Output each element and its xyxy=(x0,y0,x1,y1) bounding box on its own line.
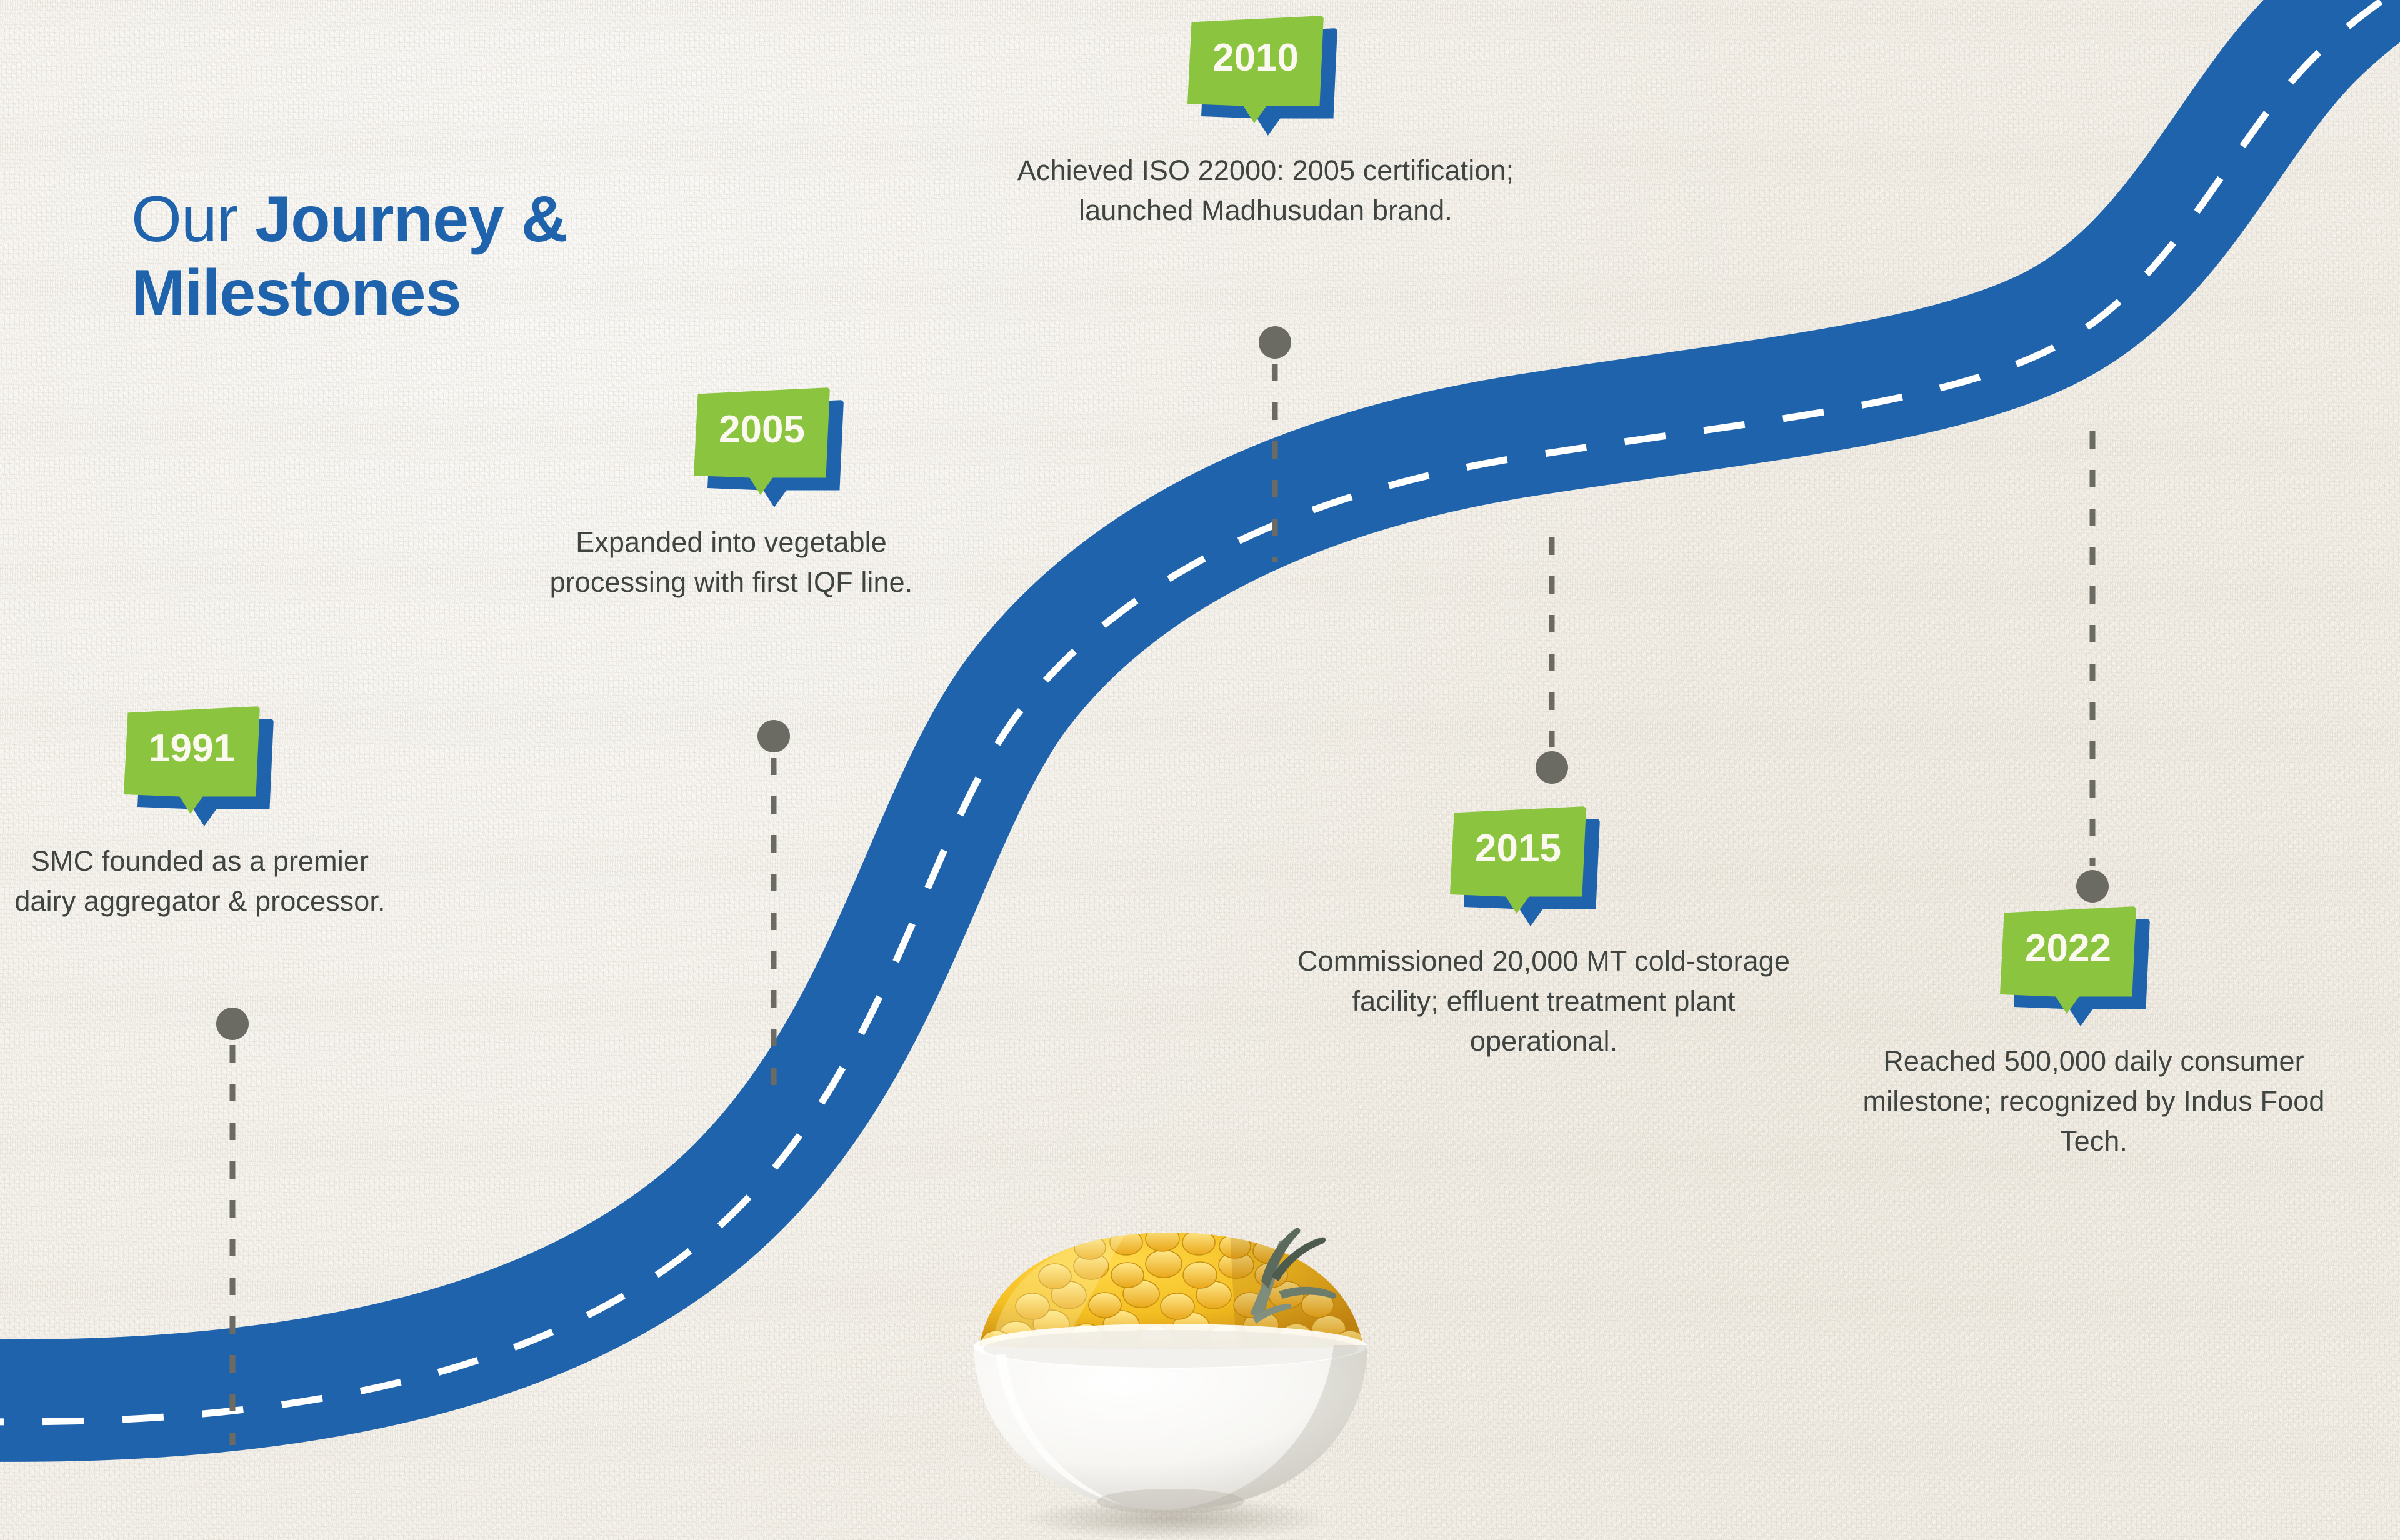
badge-year-label: 2022 xyxy=(2025,926,2111,971)
connector-2005 xyxy=(757,720,790,1100)
milestone-description: Expanded into vegetable processing with … xyxy=(512,522,950,602)
badge-year-label: 2015 xyxy=(1475,826,1561,871)
bowl-rim-inner xyxy=(983,1330,1358,1367)
bowl-foot xyxy=(1097,1489,1244,1514)
badge-year-label: 2005 xyxy=(719,407,805,452)
milestone-description: Commissioned 20,000 MT cold-storage faci… xyxy=(1287,941,1800,1061)
milestone-description: Achieved ISO 22000: 2005 certification; … xyxy=(1006,151,1525,231)
milestone-1991[interactable]: 1991 SMC founded as a premier dairy aggr… xyxy=(0,706,400,949)
milestone-2010[interactable]: 2010 Achieved ISO 22000: 2005 certificat… xyxy=(1006,16,1525,259)
page-title-part-journey: Journey & xyxy=(255,183,567,256)
milestone-description: Reached 500,000 daily consumer milestone… xyxy=(1850,1041,2337,1161)
connector-2010 xyxy=(1259,326,1291,562)
connector-2015 xyxy=(1536,537,1568,784)
year-badge-2022[interactable]: 2022 xyxy=(2000,906,2150,1025)
milestone-description: SMC founded as a premier dairy aggregato… xyxy=(0,841,400,921)
page-title-part-our: Our xyxy=(131,183,255,256)
badge-year-label: 2010 xyxy=(1212,36,1299,80)
milestone-2022[interactable]: 2022 Reached 500,000 daily consumer mile… xyxy=(1850,906,2337,1189)
page-title-part-milestones: Milestones xyxy=(131,257,461,329)
connector-1991 xyxy=(216,1007,249,1445)
connector-2022 xyxy=(2076,431,2109,902)
year-badge-2005[interactable]: 2005 xyxy=(694,387,844,506)
page-title: Our Journey & Milestones xyxy=(131,182,756,331)
milestone-2005[interactable]: 2005 Expanded into vegetable processing … xyxy=(512,387,950,631)
year-badge-2015[interactable]: 2015 xyxy=(1450,806,1600,925)
year-badge-1991[interactable]: 1991 xyxy=(124,706,274,825)
milestone-2015[interactable]: 2015 Commissioned 20,000 MT cold-storage… xyxy=(1287,806,1800,1089)
year-badge-2010[interactable]: 2010 xyxy=(1187,16,1337,134)
sweetcorn-bowl-image xyxy=(967,1206,1374,1540)
badge-year-label: 1991 xyxy=(149,726,235,771)
